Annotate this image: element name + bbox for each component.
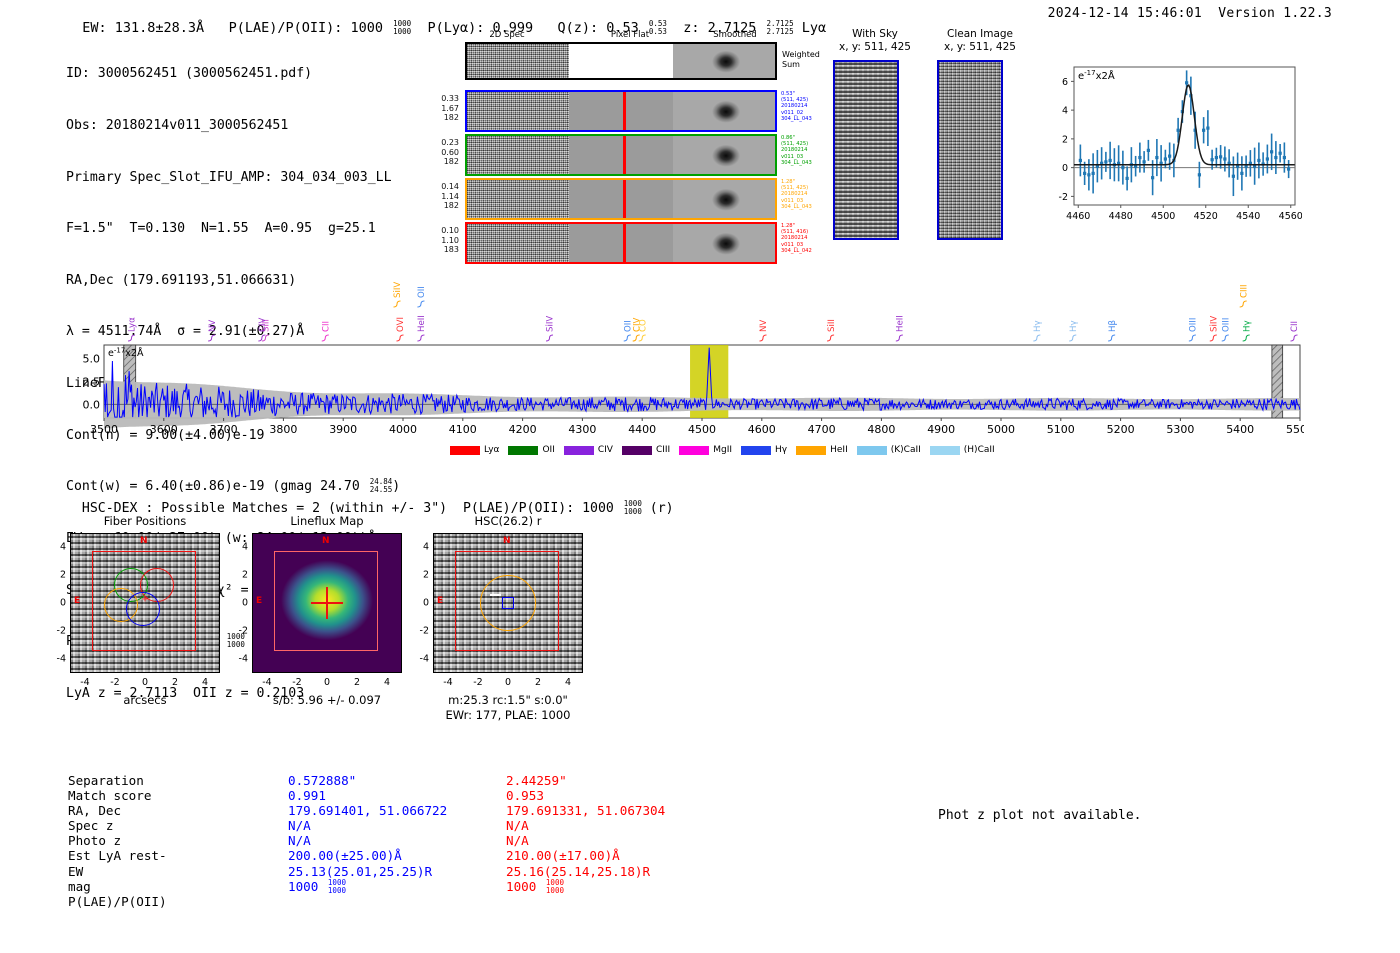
- clean-image-coords: x, y: 511, 425: [920, 41, 1040, 54]
- cutout-xlabel: m:25.3 rc:1.5" s:0.0": [403, 693, 613, 707]
- svg-text:3500: 3500: [90, 423, 118, 436]
- legend-label: Lyα: [484, 445, 499, 455]
- legend-label: (K)CaII: [891, 445, 921, 455]
- cutout-x-tick: 0: [324, 677, 330, 688]
- spectrum-legend: LyαOIICIVCIIIMgIIHγHeII(K)CaII(H)CaII: [450, 445, 995, 455]
- svg-text:Hγ: Hγ: [1033, 320, 1043, 332]
- svg-text:4500: 4500: [1151, 211, 1175, 222]
- svg-text:4500: 4500: [688, 423, 716, 436]
- svg-text:Lyα: Lyα: [128, 317, 138, 332]
- twod-spec-panel: 2D Spec Pixel Flat Smoothed WeightedSum …: [425, 30, 815, 255]
- svg-text:4800: 4800: [867, 423, 895, 436]
- legend-item: Lyα: [450, 445, 499, 455]
- clean-image-title: Clean Image: [920, 28, 1040, 41]
- svg-text:4600: 4600: [748, 423, 776, 436]
- line-profile-chart: 446044804500452045404560-20246e-17x2Å: [1040, 55, 1302, 235]
- full-spectrum-chart: e-17x2Å350036003700380039004000410042004…: [78, 278, 1304, 463]
- svg-text:6: 6: [1062, 77, 1068, 88]
- svg-text:OIII: OIII: [1189, 318, 1199, 332]
- plae2-lower: 1000: [227, 641, 245, 649]
- cutout-x-tick: -4: [443, 677, 452, 688]
- svg-text:Hβ: Hβ: [1108, 320, 1118, 332]
- svg-text:4540: 4540: [1236, 211, 1260, 222]
- match-row-value: N/A: [288, 833, 447, 848]
- match-row-label: Match score: [68, 788, 167, 803]
- match-row-value: 0.991: [288, 788, 447, 803]
- cutout-y-tick: -2: [46, 626, 66, 637]
- twod-spec-row: [465, 178, 777, 220]
- legend-label: CIII: [656, 445, 670, 455]
- svg-text:HeII: HeII: [896, 315, 906, 332]
- svg-text:4520: 4520: [1194, 211, 1218, 222]
- cutout-y-tick: -4: [409, 654, 429, 665]
- match-row-value: 2.44259": [506, 773, 665, 788]
- weighted-sum-row: [465, 42, 777, 80]
- legend-item: CIII: [622, 445, 670, 455]
- cutout-x-tick: -4: [262, 677, 271, 688]
- svg-text:SiIV: SiIV: [393, 282, 403, 298]
- cutout-x-tick: -2: [292, 677, 301, 688]
- svg-text:4400: 4400: [628, 423, 656, 436]
- twod-row-left-labels: 0.331.67182: [425, 94, 459, 123]
- twod-row-right-labels: 1.28"(511, 416)20180214v011_03304_LL_042: [781, 223, 831, 254]
- svg-text:5500: 5500: [1286, 423, 1304, 436]
- match-row-label: Spec z: [68, 818, 167, 833]
- cutout-title: Fiber Positions: [60, 514, 230, 528]
- hscdex-plae-lower: 1000: [624, 508, 642, 516]
- twod-row-left-labels: 0.141.14182: [425, 182, 459, 211]
- cutout-title: Lineflux Map: [242, 514, 412, 528]
- svg-text:2: 2: [1062, 134, 1068, 145]
- svg-text:4700: 4700: [808, 423, 836, 436]
- cutout-title: HSC(26.2) r: [423, 514, 593, 528]
- match-table-labels: SeparationMatch scoreRA, DecSpec zPhoto …: [68, 773, 167, 909]
- cutout-y-tick: 0: [46, 598, 66, 609]
- cutout-y-tick: -4: [228, 654, 248, 665]
- cutout-x-tick: 2: [172, 677, 178, 688]
- cutout-xlabel: arcsecs: [40, 693, 250, 707]
- cutout-xlabel: s/b: 5.96 +/- 0.097: [222, 693, 432, 707]
- svg-text:2.5: 2.5: [83, 376, 101, 389]
- cutout-x-tick: -4: [80, 677, 89, 688]
- twod-spec-row: [465, 222, 777, 264]
- compass-east: E: [437, 596, 443, 606]
- svg-text:SiII: SiII: [827, 319, 837, 332]
- info-line-params: F=1.5" T=0.130 N=1.55 A=0.95 g=25.1: [66, 220, 400, 237]
- match-row-value: N/A: [288, 818, 447, 833]
- svg-text:4200: 4200: [509, 423, 537, 436]
- cutout-x-tick: -2: [473, 677, 482, 688]
- with-sky-caption: With Sky x, y: 511, 425: [820, 28, 930, 54]
- svg-text:SiIV: SiIV: [546, 316, 556, 332]
- cutout-y-tick: 4: [409, 542, 429, 553]
- timestamp-version: 2024-12-14 15:46:01 Version 1.22.3: [1048, 6, 1332, 21]
- legend-item: CIV: [564, 445, 613, 455]
- svg-text:NV: NV: [759, 320, 769, 332]
- twod-row-right-labels: 1.28"(511, 425)20180214v011_03304_LL_043: [781, 179, 831, 210]
- svg-text:4: 4: [1062, 106, 1068, 117]
- cutout-y-tick: 2: [46, 570, 66, 581]
- svg-text:CII: CII: [321, 321, 331, 332]
- svg-text:3600: 3600: [150, 423, 178, 436]
- svg-text:3900: 3900: [329, 423, 357, 436]
- crosshair-vertical: [326, 587, 328, 619]
- legend-color-chip: [930, 446, 960, 455]
- label-pixel-flat: Pixel Flat: [575, 30, 685, 40]
- cutout-y-tick: -4: [46, 654, 66, 665]
- match-row-value: 179.691331, 51.067304: [506, 803, 665, 818]
- svg-text:e-17x2Å: e-17x2Å: [108, 347, 144, 360]
- legend-label: CIV: [598, 445, 613, 455]
- match-row-value: 0.572888": [288, 773, 447, 788]
- cutout-x-tick: 4: [384, 677, 390, 688]
- compass-north: N: [322, 536, 330, 546]
- cutout-x-tick: 4: [565, 677, 571, 688]
- match-row-label: Est LyA rest-EW: [68, 848, 167, 878]
- match-row-value: 25.13(25.01,25.25)R: [288, 864, 447, 879]
- svg-text:HeII: HeII: [417, 315, 427, 332]
- legend-label: OII: [542, 445, 554, 455]
- clean-image-caption: Clean Image x, y: 511, 425: [920, 28, 1040, 54]
- hscdex-title: HSC-DEX : Possible Matches = 2 (within +…: [66, 485, 674, 516]
- cutout-x-tick: 2: [354, 677, 360, 688]
- match-row-label: RA, Dec: [68, 803, 167, 818]
- with-sky-coords: x, y: 511, 425: [820, 41, 930, 54]
- twod-row-right-labels: 0.53"(511, 425)20180214v011_02304_LL_043: [781, 91, 831, 122]
- cutout-y-tick: 0: [409, 598, 429, 609]
- svg-text:4000: 4000: [389, 423, 417, 436]
- svg-text:5000: 5000: [987, 423, 1015, 436]
- legend-label: HeII: [830, 445, 848, 455]
- svg-text:OIII: OIII: [1221, 318, 1231, 332]
- legend-item: HeII: [796, 445, 848, 455]
- cutout-y-tick: -2: [409, 626, 429, 637]
- svg-text:5100: 5100: [1047, 423, 1075, 436]
- legend-color-chip: [622, 446, 652, 455]
- legend-label: MgII: [713, 445, 732, 455]
- target-marker: +: [142, 594, 148, 605]
- match-row-label: Photo z: [68, 833, 167, 848]
- legend-item: MgII: [679, 445, 732, 455]
- svg-text:OII: OII: [417, 286, 427, 298]
- svg-text:CIII: CIII: [1239, 284, 1249, 298]
- twod-row-left-labels: 0.230.60182: [425, 138, 459, 167]
- legend-color-chip: [508, 446, 538, 455]
- cutout-x-tick: 4: [202, 677, 208, 688]
- svg-text:4900: 4900: [927, 423, 955, 436]
- legend-color-chip: [796, 446, 826, 455]
- svg-text:4480: 4480: [1109, 211, 1133, 222]
- label-smoothed: Smoothed: [680, 30, 790, 40]
- cutout-y-tick: -2: [228, 626, 248, 637]
- svg-text:OVI: OVI: [396, 317, 406, 332]
- twod-row-right-labels: 0.86"(511, 425)20180214v011_03304_LL_043: [781, 135, 831, 166]
- twod-spec-row: [465, 134, 777, 176]
- cutout-sublabel: EWr: 177, PLAE: 1000: [403, 708, 613, 722]
- cutout-y-tick: 4: [228, 542, 248, 553]
- match-row-value: 25.16(25.14,25.18)R: [506, 864, 665, 879]
- hscdex-filter: (r): [642, 501, 674, 516]
- legend-item: OII: [508, 445, 554, 455]
- match-row-value: N/A: [506, 818, 665, 833]
- match-row-value: N/A: [506, 833, 665, 848]
- match-row-value: 200.00(±25.00)Å: [288, 848, 447, 863]
- svg-text:4300: 4300: [568, 423, 596, 436]
- match-row-value: 0.953: [506, 788, 665, 803]
- svg-text:4100: 4100: [449, 423, 477, 436]
- legend-label: (H)CaII: [964, 445, 995, 455]
- svg-text:5300: 5300: [1166, 423, 1194, 436]
- svg-text:5400: 5400: [1226, 423, 1254, 436]
- compass-east: E: [256, 596, 262, 606]
- match-row-value: 179.691401, 51.066722: [288, 803, 447, 818]
- twod-row-left-labels: 0.101.10183: [425, 226, 459, 255]
- svg-text:5.0: 5.0: [83, 353, 101, 366]
- compass-north: N: [503, 536, 511, 546]
- svg-text:e-17x2Å: e-17x2Å: [1078, 69, 1115, 82]
- match-row-label: mag: [68, 879, 167, 894]
- with-sky-title: With Sky: [820, 28, 930, 41]
- cutout-x-tick: 0: [142, 677, 148, 688]
- legend-item: (K)CaII: [857, 445, 921, 455]
- cutout-y-tick: 2: [409, 570, 429, 581]
- svg-text:0: 0: [1062, 163, 1068, 174]
- match-table-column-2: 2.44259"0.953179.691331, 51.067304N/AN/A…: [506, 773, 665, 895]
- cutout-y-tick: 0: [228, 598, 248, 609]
- svg-text:SiIV: SiIV: [1209, 316, 1219, 332]
- info-line-id: ID: 3000562451 (3000562451.pdf): [66, 65, 400, 82]
- svg-text:CII: CII: [1290, 321, 1300, 332]
- twod-spec-row: [465, 90, 777, 132]
- info-line-obs: Obs: 20180214v011_3000562451: [66, 117, 400, 134]
- match-row-value: 1000 10001000: [288, 879, 447, 896]
- match-table-column-1: 0.572888"0.991179.691401, 51.066722N/AN/…: [288, 773, 447, 895]
- with-sky-image: [833, 60, 899, 240]
- legend-color-chip: [679, 446, 709, 455]
- svg-text:Hγ: Hγ: [1242, 320, 1252, 332]
- svg-text:-2: -2: [1059, 192, 1068, 203]
- photoz-note: Phot z plot not available.: [938, 808, 1142, 823]
- match-row-value: 210.00(±17.00)Å: [506, 848, 665, 863]
- match-marker-2: [490, 594, 501, 596]
- legend-color-chip: [450, 446, 480, 455]
- label-2d-spec: 2D Spec: [447, 30, 567, 40]
- info-line-slot: Primary Spec_Slot_IFU_AMP: 304_034_003_L…: [66, 169, 400, 186]
- svg-text:4560: 4560: [1279, 211, 1302, 222]
- svg-text:3700: 3700: [210, 423, 238, 436]
- cutout-x-tick: 2: [535, 677, 541, 688]
- legend-item: (H)CaII: [930, 445, 995, 455]
- match-row-value: 1000 10001000: [506, 879, 665, 896]
- cutout-x-tick: 0: [505, 677, 511, 688]
- svg-text:4460: 4460: [1066, 211, 1090, 222]
- legend-color-chip: [741, 446, 771, 455]
- legend-item: Hγ: [741, 445, 787, 455]
- svg-text:NV: NV: [208, 320, 218, 332]
- legend-label: Hγ: [775, 445, 787, 455]
- clean-image-thumb: [937, 60, 1003, 240]
- svg-text:5200: 5200: [1107, 423, 1135, 436]
- compass-east: E: [74, 596, 80, 606]
- cutout-y-tick: 4: [46, 542, 66, 553]
- match-row-label: P(LAE)/P(OII): [68, 894, 167, 909]
- match-row-label: Separation: [68, 773, 167, 788]
- legend-color-chip: [564, 446, 594, 455]
- svg-text:Hγ: Hγ: [1069, 320, 1079, 332]
- cutout-x-tick: -2: [110, 677, 119, 688]
- svg-text:CO: CO: [638, 319, 648, 332]
- legend-color-chip: [857, 446, 887, 455]
- cutout-y-tick: 2: [228, 570, 248, 581]
- svg-text:CIV: CIV: [258, 317, 268, 332]
- svg-text:0.0: 0.0: [83, 398, 101, 411]
- compass-north: N: [140, 536, 148, 546]
- match-marker-1: [502, 597, 514, 609]
- svg-text:3800: 3800: [269, 423, 297, 436]
